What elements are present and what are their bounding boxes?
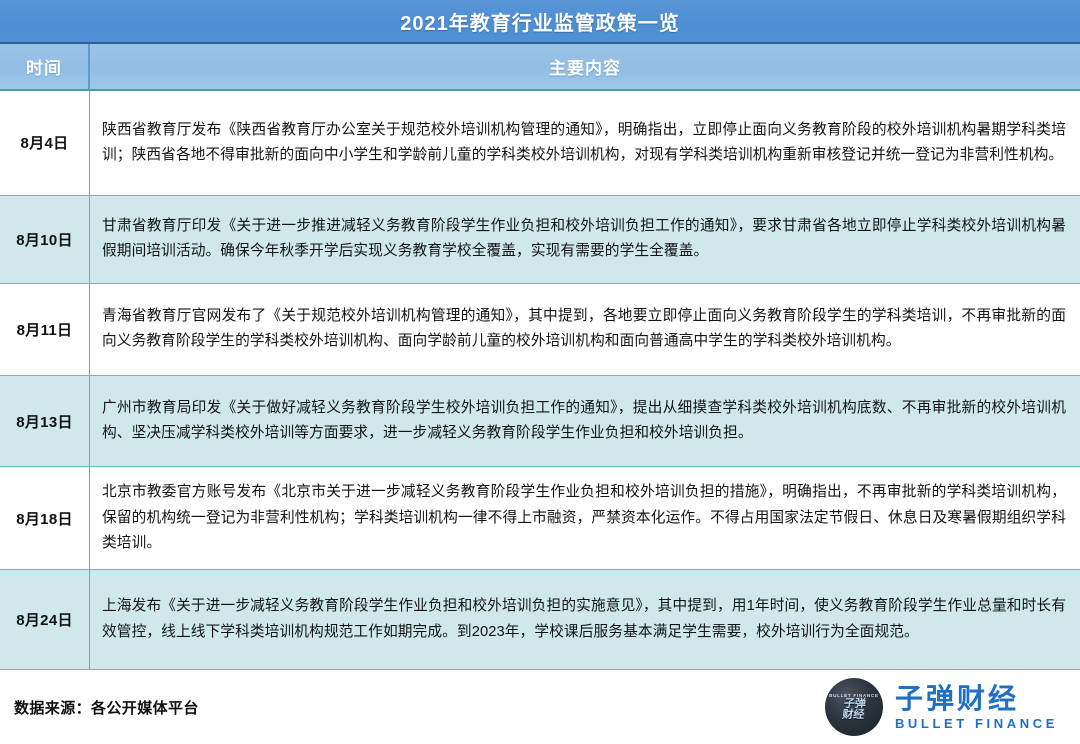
table-row: 8月10日 甘肃省教育厅印发《关于进一步推进减轻义务教育阶段学生作业负担和校外培…: [0, 196, 1080, 284]
table-row: 8月11日 青海省教育厅官网发布了《关于规范校外培训机构管理的通知》，其中提到，…: [0, 284, 1080, 376]
brand-name-cn: 子弹财经: [895, 684, 1019, 713]
column-header-content: 主要内容: [90, 44, 1080, 89]
page-title: 2021年教育行业监管政策一览: [400, 7, 680, 36]
table-row: 8月18日 北京市教委官方账号发布《北京市关于进一步减轻义务教育阶段学生作业负担…: [0, 467, 1080, 570]
brand-text: 子弹财经 BULLET FINANCE: [895, 684, 1058, 729]
row-content: 陕西省教育厅发布《陕西省教育厅办公室关于规范校外培训机构管理的通知》，明确指出，…: [90, 91, 1080, 195]
row-content-text: 青海省教育厅官网发布了《关于规范校外培训机构管理的通知》，其中提到，各地要立即停…: [102, 304, 1066, 355]
row-date: 8月18日: [0, 467, 90, 569]
row-content: 青海省教育厅官网发布了《关于规范校外培训机构管理的通知》，其中提到，各地要立即停…: [90, 284, 1080, 375]
table-column-header: 时间 主要内容: [0, 44, 1080, 91]
row-content: 北京市教委官方账号发布《北京市关于进一步减轻义务教育阶段学生作业负担和校外培训负…: [90, 467, 1080, 569]
row-date: 8月10日: [0, 196, 90, 283]
row-content-text: 广州市教育局印发《关于做好减轻义务教育阶段学生校外培训负担工作的通知》，提出从细…: [102, 396, 1066, 447]
row-content: 上海发布《关于进一步减轻义务教育阶段学生作业负担和校外培训负担的实施意见》，其中…: [90, 570, 1080, 669]
footer: 数据来源：各公开媒体平台 BULLET FINANCE 子弹 财经 子弹财经 B…: [0, 670, 1080, 744]
brand-name-en: BULLET FINANCE: [895, 717, 1058, 730]
row-date: 8月11日: [0, 284, 90, 375]
data-source-label: 数据来源：各公开媒体平台: [14, 697, 199, 718]
row-content-text: 北京市教委官方账号发布《北京市关于进一步减轻义务教育阶段学生作业负担和校外培训负…: [102, 480, 1066, 556]
column-header-time: 时间: [0, 44, 90, 89]
row-content-text: 上海发布《关于进一步减轻义务教育阶段学生作业负担和校外培训负担的实施意见》，其中…: [102, 594, 1066, 645]
policy-table-infographic: 2021年教育行业监管政策一览 时间 主要内容 8月4日 陕西省教育厅发布《陕西…: [0, 0, 1080, 744]
row-content-text: 陕西省教育厅发布《陕西省教育厅办公室关于规范校外培训机构管理的通知》，明确指出，…: [102, 118, 1066, 169]
row-content: 甘肃省教育厅印发《关于进一步推进减轻义务教育阶段学生作业负担和校外培训负担工作的…: [90, 196, 1080, 283]
badge-main-line2: 财经: [841, 710, 865, 721]
row-date: 8月24日: [0, 570, 90, 669]
row-content: 广州市教育局印发《关于做好减轻义务教育阶段学生校外培训负担工作的通知》，提出从细…: [90, 376, 1080, 467]
table-row: 8月13日 广州市教育局印发《关于做好减轻义务教育阶段学生校外培训负担工作的通知…: [0, 376, 1080, 468]
row-date: 8月4日: [0, 91, 90, 195]
table-row: 8月4日 陕西省教育厅发布《陕西省教育厅办公室关于规范校外培训机构管理的通知》，…: [0, 91, 1080, 196]
row-content-text: 甘肃省教育厅印发《关于进一步推进减轻义务教育阶段学生作业负担和校外培训负担工作的…: [102, 214, 1066, 265]
table-body: 8月4日 陕西省教育厅发布《陕西省教育厅办公室关于规范校外培训机构管理的通知》，…: [0, 91, 1080, 670]
badge-main-label: 子弹 财经: [841, 699, 866, 721]
bullet-finance-badge-icon: BULLET FINANCE 子弹 财经: [825, 678, 883, 736]
table-row: 8月24日 上海发布《关于进一步减轻义务教育阶段学生作业负担和校外培训负担的实施…: [0, 570, 1080, 670]
brand-logo: BULLET FINANCE 子弹 财经 子弹财经 BULLET FINANCE: [825, 678, 1066, 736]
title-bar: 2021年教育行业监管政策一览: [0, 0, 1080, 44]
row-date: 8月13日: [0, 376, 90, 467]
